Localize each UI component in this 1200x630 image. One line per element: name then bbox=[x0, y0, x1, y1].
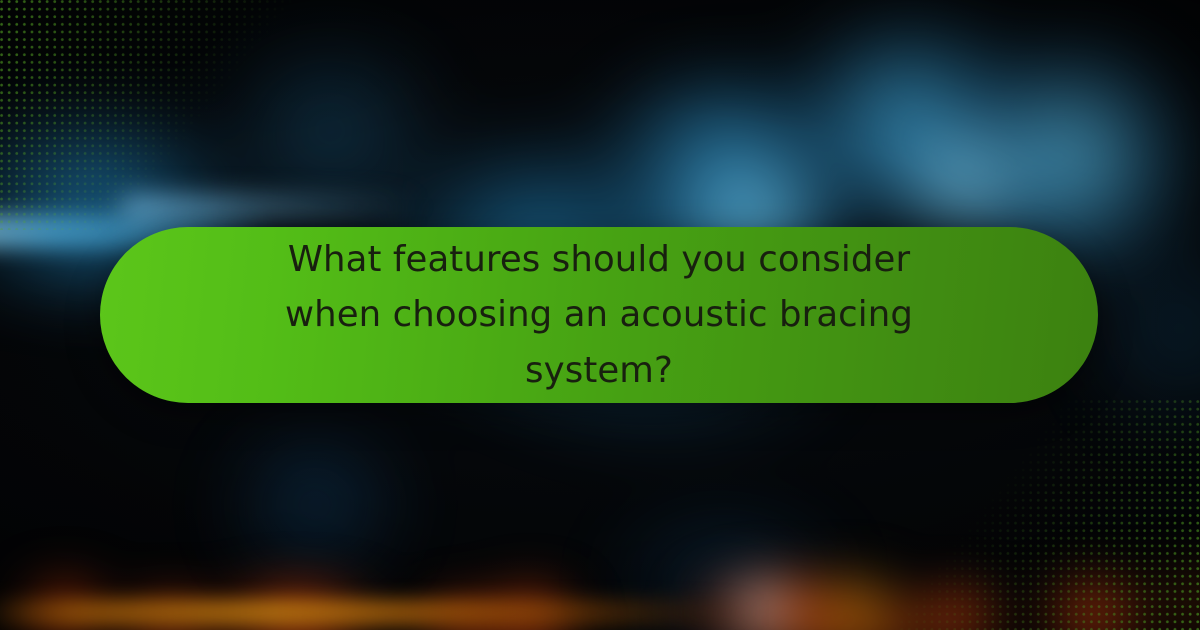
halftone-dots-top-left bbox=[0, 0, 300, 230]
question-pill: What features should you consider when c… bbox=[100, 227, 1098, 403]
background-amber-strip bbox=[0, 600, 760, 626]
halftone-dots-bottom-right bbox=[900, 400, 1200, 630]
question-card-canvas: What features should you consider when c… bbox=[0, 0, 1200, 630]
question-text: What features should you consider when c… bbox=[249, 232, 949, 398]
glow-blob bbox=[850, 120, 1080, 240]
glow-blob bbox=[200, 430, 430, 580]
glow-blob bbox=[760, 20, 1060, 220]
